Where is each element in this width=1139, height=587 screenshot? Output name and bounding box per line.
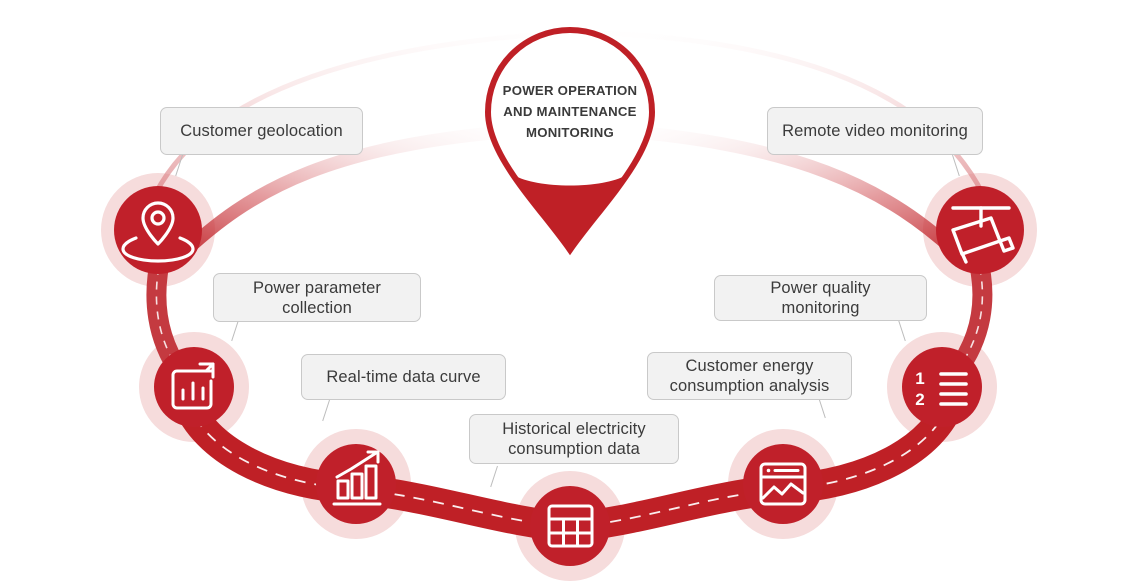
label-remote-video-monitoring[interactable]: Remote video monitoring	[767, 107, 983, 155]
page-title: POWER OPERATION AND MAINTENANCE MONITORI…	[487, 80, 653, 143]
pin-title-line-1: POWER OPERATION	[487, 80, 653, 101]
svg-text:1: 1	[915, 369, 924, 388]
svg-text:2: 2	[915, 390, 924, 409]
label-historical-electricity-consumption-data[interactable]: Historical electricity consumption data	[469, 414, 679, 464]
label-text-line-2: consumption analysis	[670, 376, 830, 396]
label-text-line-1: Customer energy	[685, 356, 813, 376]
label-customer-energy-consumption-analysis[interactable]: Customer energy consumption analysis	[647, 352, 852, 400]
label-text-line-1: Power parameter	[253, 278, 381, 298]
label-text-line-2: collection	[282, 298, 352, 318]
diagram-canvas: 1 2	[0, 0, 1139, 587]
pin-title-line-2: AND MAINTENANCE	[487, 101, 653, 122]
pin-title-line-3: MONITORING	[487, 122, 653, 143]
label-text: Customer geolocation	[180, 121, 343, 141]
label-text: Remote video monitoring	[782, 121, 968, 141]
label-text: Real-time data curve	[326, 367, 480, 387]
label-power-parameter-collection[interactable]: Power parameter collection	[213, 273, 421, 322]
label-real-time-data-curve[interactable]: Real-time data curve	[301, 354, 506, 400]
label-text-line-1: Historical electricity	[502, 419, 645, 439]
label-power-quality-monitoring[interactable]: Power quality monitoring	[714, 275, 927, 321]
label-text: Power quality monitoring	[729, 278, 912, 318]
label-text-line-2: consumption data	[508, 439, 640, 459]
label-customer-geolocation[interactable]: Customer geolocation	[160, 107, 363, 155]
